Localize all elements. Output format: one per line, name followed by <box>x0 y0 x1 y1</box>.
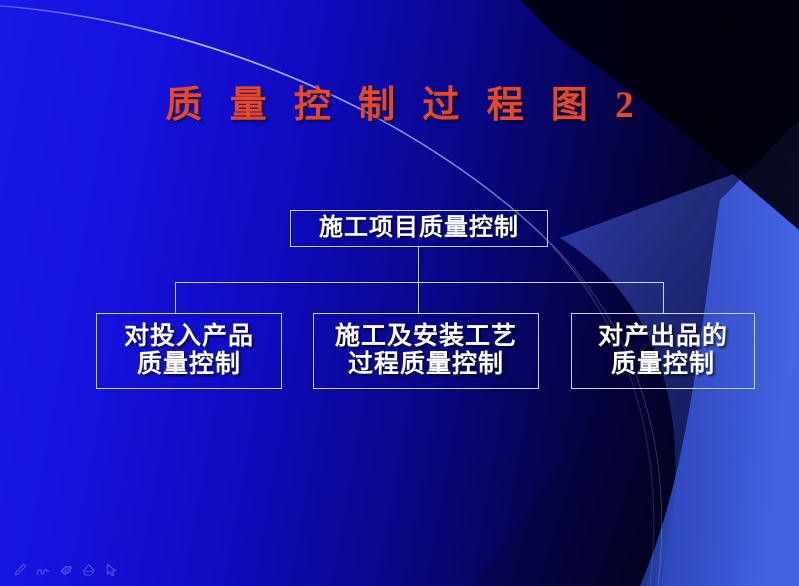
connector-root-stem <box>418 247 419 282</box>
arrow-pointer-icon[interactable] <box>104 562 120 578</box>
presentation-slide: 质 量 控 制 过 程 图 2 施工项目质量控制 对投入产品 质量控制 施工及安… <box>0 0 799 586</box>
slide-title: 质 量 控 制 过 程 图 2 <box>0 74 799 128</box>
flowchart-node-output-line-1: 对产出品的 <box>598 323 728 351</box>
pen-icon[interactable] <box>12 562 28 578</box>
connector-drop-right <box>663 282 664 313</box>
connector-drop-middle <box>418 282 419 313</box>
flowchart-node-input-line-2: 质量控制 <box>137 351 241 379</box>
eraser-icon[interactable] <box>81 562 97 578</box>
highlighter-icon[interactable] <box>58 562 74 578</box>
connector-horizontal-bus <box>175 282 664 283</box>
flowchart-node-process-line-2: 过程质量控制 <box>348 351 504 379</box>
flowchart-node-process-quality-control[interactable]: 施工及安装工艺 过程质量控制 <box>313 313 539 389</box>
flowchart-node-process-line-1: 施工及安装工艺 <box>335 323 517 351</box>
flowchart-node-output-quality-control[interactable]: 对产出品的 质量控制 <box>571 313 755 389</box>
flowchart-node-root-line-1: 施工项目质量控制 <box>319 215 519 242</box>
flowchart-node-input-quality-control[interactable]: 对投入产品 质量控制 <box>96 313 282 389</box>
felt-tip-pen-icon[interactable] <box>35 562 51 578</box>
flowchart-node-root[interactable]: 施工项目质量控制 <box>290 210 548 247</box>
ink-annotation-toolbar[interactable] <box>12 562 120 578</box>
flowchart-node-output-line-2: 质量控制 <box>611 351 715 379</box>
connector-drop-left <box>175 282 176 313</box>
flowchart-node-input-line-1: 对投入产品 <box>124 323 254 351</box>
